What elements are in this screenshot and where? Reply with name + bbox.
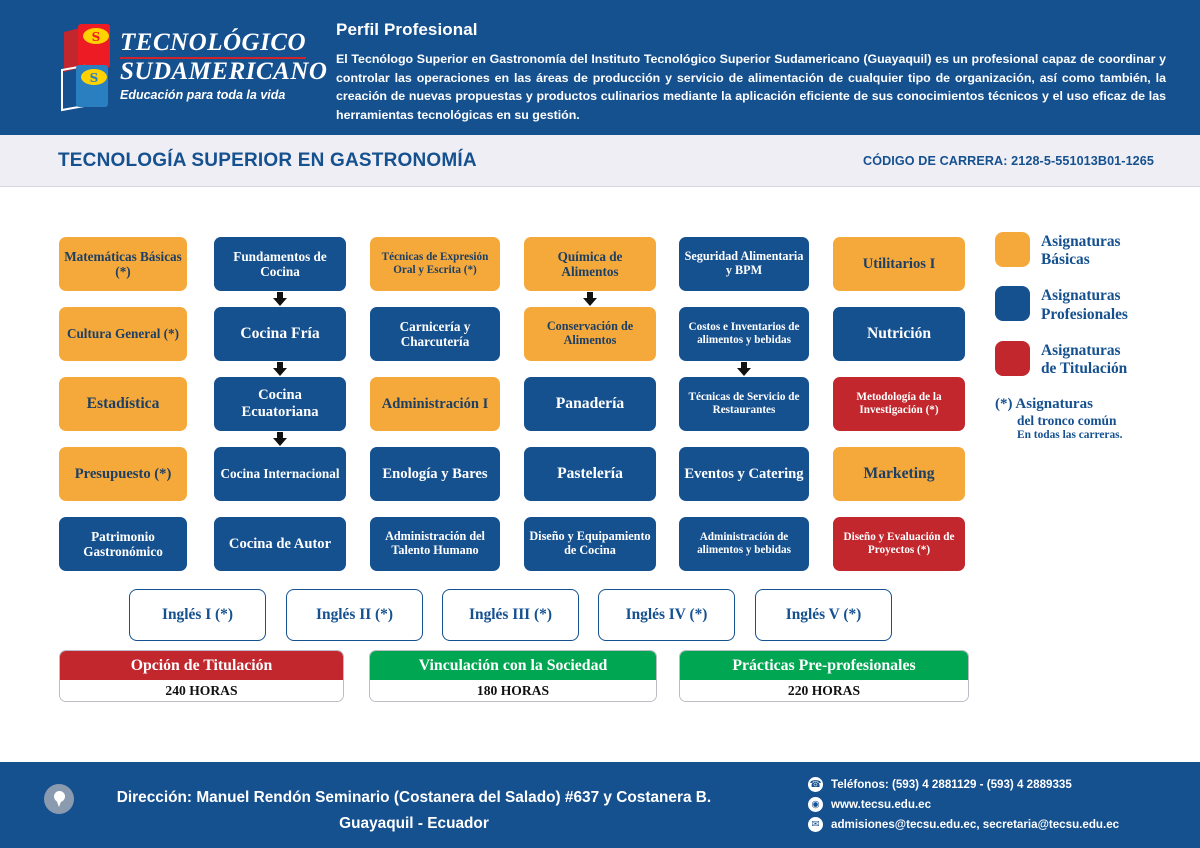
address-block: Dirección: Manuel Rendón Seminario (Cost… [84, 785, 744, 837]
legend-label-titulacion: Asignaturas de Titulación [1041, 341, 1127, 378]
course-cell: Cultura General (*) [59, 307, 187, 377]
course-box[interactable]: Seguridad Alimentaria y BPM [679, 237, 809, 291]
requirement-title: Prácticas Pre-profesionales [680, 651, 968, 680]
course-cell: Patrimonio Gastronómico [59, 517, 187, 587]
address-line-2: Guayaquil - Ecuador [339, 815, 489, 832]
course-box[interactable]: Fundamentos de Cocina [214, 237, 346, 291]
globe-icon: ◉ [808, 797, 823, 812]
footnote-line3: En todas las carreras. [995, 429, 1195, 441]
legend: Asignaturas Básicas Asignaturas Profesio… [995, 232, 1195, 441]
legend-prof-line2: Profesionales [1041, 306, 1128, 323]
course-box[interactable]: Administración I [370, 377, 500, 431]
legend-swatch-professional [995, 286, 1030, 321]
contact-block: ☎ Teléfonos: (593) 4 2881129 - (593) 4 2… [808, 777, 1188, 837]
legend-titul-line1: Asignaturas [1041, 342, 1121, 359]
svg-text:S: S [90, 71, 99, 85]
requirement-hours: 220 HORAS [680, 680, 968, 701]
curriculum-column-6: Utilitarios INutriciónMetodología de la … [833, 237, 965, 587]
footnote-line1: (*) Asignaturas [995, 396, 1093, 412]
course-cell: Administración I [370, 377, 500, 447]
course-box[interactable]: Presupuesto (*) [59, 447, 187, 501]
course-box[interactable]: Cocina de Autor [214, 517, 346, 571]
course-cell: Nutrición [833, 307, 965, 377]
profile-description: El Tecnólogo Superior en Gastronomía del… [336, 50, 1166, 124]
course-box[interactable]: Diseño y Equipamiento de Cocina [524, 517, 656, 571]
legend-item-titulacion: Asignaturas de Titulación [995, 341, 1195, 378]
course-cell: Técnicas de Expresión Oral y Escrita (*) [370, 237, 500, 307]
requirement-hours: 180 HORAS [370, 680, 656, 701]
course-box[interactable]: Cultura General (*) [59, 307, 187, 361]
course-cell: Panadería [524, 377, 656, 447]
course-cell: Conservación de Alimentos [524, 307, 656, 377]
professional-profile: Perfil Profesional El Tecnólogo Superior… [336, 20, 1166, 124]
course-cell: Marketing [833, 447, 965, 517]
legend-basic-line2: Básicas [1041, 251, 1090, 268]
legend-item-basic: Asignaturas Básicas [995, 232, 1195, 269]
curriculum-column-3: Técnicas de Expresión Oral y Escrita (*)… [370, 237, 500, 587]
course-box[interactable]: Panadería [524, 377, 656, 431]
career-code: CÓDIGO DE CARRERA: 2128-5-551013B01-1265 [863, 154, 1154, 168]
header-banner: S S TECNOLÓGICO SUDAMERICANO Educación p… [0, 0, 1200, 135]
course-cell: Administración de alimentos y bebidas [679, 517, 809, 587]
course-cell: Administración del Talento Humano [370, 517, 500, 587]
course-box[interactable]: Administración del Talento Humano [370, 517, 500, 571]
legend-label-professional: Asignaturas Profesionales [1041, 286, 1128, 323]
curriculum-column-4: Química de AlimentosConservación de Alim… [524, 237, 656, 587]
logo-line-1: TECNOLÓGICO [120, 30, 310, 56]
course-box[interactable]: Costos e Inventarios de alimentos y bebi… [679, 307, 809, 361]
course-box[interactable]: Química de Alimentos [524, 237, 656, 291]
course-box[interactable]: Cocina Ecuatoriana [214, 377, 346, 431]
course-cell: Fundamentos de Cocina [214, 237, 346, 307]
english-courses-row: Inglés I (*)Inglés II (*)Inglés III (*)I… [0, 589, 1000, 641]
course-box[interactable]: Eventos y Catering [679, 447, 809, 501]
course-box[interactable]: Patrimonio Gastronómico [59, 517, 187, 571]
curriculum-column-1: Matemáticas Básicas (*)Cultura General (… [59, 237, 187, 587]
course-box[interactable]: Marketing [833, 447, 965, 501]
course-box[interactable]: Pastelería [524, 447, 656, 501]
course-cell: Estadística [59, 377, 187, 447]
course-cell: Costos e Inventarios de alimentos y bebi… [679, 307, 809, 377]
course-box[interactable]: Metodología de la Investigación (*) [833, 377, 965, 431]
address-line-1: Dirección: Manuel Rendón Seminario (Cost… [117, 789, 711, 806]
course-cell: Eventos y Catering [679, 447, 809, 517]
requirement-title: Vinculación con la Sociedad [370, 651, 656, 680]
course-box[interactable]: Técnicas de Servicio de Restaurantes [679, 377, 809, 431]
english-course-box[interactable]: Inglés I (*) [129, 589, 266, 641]
website-text[interactable]: www.tecsu.edu.ec [831, 798, 931, 811]
requirement-hours: 240 HORAS [60, 680, 343, 701]
program-title-bar: TECNOLOGÍA SUPERIOR EN GASTRONOMÍA CÓDIG… [0, 135, 1200, 187]
english-course-box[interactable]: Inglés IV (*) [598, 589, 735, 641]
institution-logo: S S TECNOLÓGICO SUDAMERICANO Educación p… [58, 22, 303, 114]
legend-swatch-basic [995, 232, 1030, 267]
course-cell: Química de Alimentos [524, 237, 656, 307]
legend-titul-line2: de Titulación [1041, 360, 1127, 377]
requirement-bars-row: Opción de Titulación240 HORASVinculación… [0, 650, 1000, 706]
email-text[interactable]: admisiones@tecsu.edu.ec, secretaria@tecs… [831, 818, 1119, 831]
course-box[interactable]: Cocina Fría [214, 307, 346, 361]
course-cell: Cocina Fría [214, 307, 346, 377]
legend-prof-line1: Asignaturas [1041, 287, 1121, 304]
svg-text:S: S [92, 30, 101, 44]
course-cell: Utilitarios I [833, 237, 965, 307]
envelope-icon: ✉ [808, 817, 823, 832]
course-box[interactable]: Matemáticas Básicas (*) [59, 237, 187, 291]
course-box[interactable]: Administración de alimentos y bebidas [679, 517, 809, 571]
logo-line-2: SUDAMERICANO [120, 59, 310, 85]
course-cell: Diseño y Equipamiento de Cocina [524, 517, 656, 587]
phone-row: ☎ Teléfonos: (593) 4 2881129 - (593) 4 2… [808, 777, 1188, 792]
course-cell: Pastelería [524, 447, 656, 517]
course-box[interactable]: Cocina Internacional [214, 447, 346, 501]
program-name: TECNOLOGÍA SUPERIOR EN GASTRONOMÍA [58, 150, 477, 172]
course-box[interactable]: Utilitarios I [833, 237, 965, 291]
footnote-line2: del tronco común [995, 413, 1195, 429]
course-box[interactable]: Diseño y Evaluación de Proyectos (*) [833, 517, 965, 571]
legend-basic-line1: Asignaturas [1041, 233, 1121, 250]
english-course-box[interactable]: Inglés III (*) [442, 589, 579, 641]
course-cell: Matemáticas Básicas (*) [59, 237, 187, 307]
logo-wordmark: TECNOLÓGICO SUDAMERICANO Educación para … [120, 30, 310, 102]
english-course-box[interactable]: Inglés V (*) [755, 589, 892, 641]
legend-item-professional: Asignaturas Profesionales [995, 286, 1195, 323]
course-box[interactable]: Carnicería y Charcutería [370, 307, 500, 361]
website-row[interactable]: ◉ www.tecsu.edu.ec [808, 797, 1188, 812]
legend-swatch-titulacion [995, 341, 1030, 376]
requirement-bar[interactable]: Prácticas Pre-profesionales220 HORAS [679, 650, 969, 702]
profile-title: Perfil Profesional [336, 20, 1166, 40]
phone-text: Teléfonos: (593) 4 2881129 - (593) 4 288… [831, 778, 1072, 791]
curriculum-infographic: S S TECNOLÓGICO SUDAMERICANO Educación p… [0, 0, 1200, 848]
legend-label-basic: Asignaturas Básicas [1041, 232, 1121, 269]
legend-footnote: (*) Asignaturas del tronco común En toda… [995, 395, 1195, 441]
course-cell: Técnicas de Servicio de Restaurantes [679, 377, 809, 447]
requirement-title: Opción de Titulación [60, 651, 343, 680]
email-row[interactable]: ✉ admisiones@tecsu.edu.ec, secretaria@te… [808, 817, 1188, 832]
curriculum-column-2: Fundamentos de CocinaCocina FríaCocina E… [214, 237, 346, 587]
course-cell: Diseño y Evaluación de Proyectos (*) [833, 517, 965, 587]
requirement-bar[interactable]: Vinculación con la Sociedad180 HORAS [369, 650, 657, 702]
course-cell: Enología y Bares [370, 447, 500, 517]
course-cell: Cocina Internacional [214, 447, 346, 517]
phone-icon: ☎ [808, 777, 823, 792]
course-cell: Carnicería y Charcutería [370, 307, 500, 377]
requirement-bar[interactable]: Opción de Titulación240 HORAS [59, 650, 344, 702]
logo-tagline: Educación para toda la vida [120, 88, 310, 102]
course-box[interactable]: Enología y Bares [370, 447, 500, 501]
course-cell: Presupuesto (*) [59, 447, 187, 517]
course-cell: Cocina Ecuatoriana [214, 377, 346, 447]
course-box[interactable]: Conservación de Alimentos [524, 307, 656, 361]
course-cell: Metodología de la Investigación (*) [833, 377, 965, 447]
course-cell: Seguridad Alimentaria y BPM [679, 237, 809, 307]
curriculum-column-5: Seguridad Alimentaria y BPMCostos e Inve… [679, 237, 809, 587]
course-box[interactable]: Técnicas de Expresión Oral y Escrita (*) [370, 237, 500, 291]
english-course-box[interactable]: Inglés II (*) [286, 589, 423, 641]
course-box[interactable]: Estadística [59, 377, 187, 431]
course-cell: Cocina de Autor [214, 517, 346, 587]
location-pin-icon [44, 784, 74, 814]
course-box[interactable]: Nutrición [833, 307, 965, 361]
